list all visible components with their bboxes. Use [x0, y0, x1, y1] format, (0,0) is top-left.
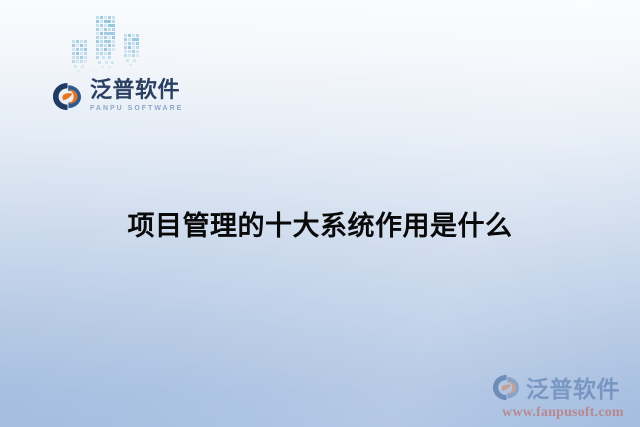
pixel-mosaic-skyline-icon — [68, 10, 154, 78]
watermark-brand-name: 泛普软件 — [526, 370, 620, 404]
brand-name-en: FANPU SOFTWARE — [90, 105, 183, 112]
fanpu-swirl-logo-icon — [492, 374, 521, 401]
fanpu-swirl-logo-icon — [52, 82, 83, 111]
brand-lockup: 泛普软件 FANPU SOFTWARE — [52, 80, 183, 112]
brand-name-cn: 泛普软件 — [90, 80, 183, 102]
watermark-brand-row: 泛普软件 — [492, 370, 634, 404]
brand-text-block: 泛普软件 FANPU SOFTWARE — [90, 80, 183, 112]
slide-canvas: 泛普软件 FANPU SOFTWARE 项目管理的十大系统作用是什么 泛普软件 … — [0, 0, 640, 427]
watermark: 泛普软件 www.fanpusoft.com — [492, 370, 634, 421]
watermark-url: www.fanpusoft.com — [492, 405, 634, 421]
page-title: 项目管理的十大系统作用是什么 — [0, 204, 640, 243]
